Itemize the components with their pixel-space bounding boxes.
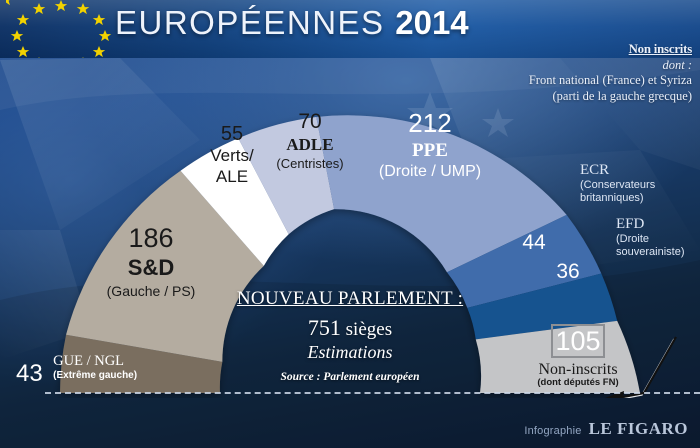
footer-brand-logo: LE FIGARO (589, 419, 688, 439)
title-year: 2014 (395, 4, 468, 41)
hemicycle-baseline (45, 392, 700, 394)
non-inscrits-value: 105 (551, 326, 605, 357)
center-estimations: Estimations (200, 342, 500, 363)
center-seats-number: 751 (308, 315, 341, 340)
center-source: Source : Parlement européen (200, 371, 500, 383)
non-inscrits-sublabel: (dont députés FN) (511, 377, 645, 388)
center-title: NOUVEAU PARLEMENT : (200, 288, 500, 310)
eu-flag-stars-icon (6, 0, 116, 58)
infographic-root: EUROPÉENNES 2014 Non inscrits dont : Fro… (0, 0, 700, 448)
page-title: EUROPÉENNES 2014 (115, 4, 469, 42)
center-summary: NOUVEAU PARLEMENT : 751 sièges Estimatio… (200, 288, 500, 383)
annotation-title: Non inscrits (442, 42, 692, 58)
title-main: EUROPÉENNES (115, 4, 385, 41)
center-seats-word: sièges (346, 319, 392, 340)
center-seats: 751 sièges (200, 315, 500, 341)
footer-infographie: Infographie (524, 425, 581, 437)
footer-credit: Infographie LE FIGARO (524, 419, 688, 439)
